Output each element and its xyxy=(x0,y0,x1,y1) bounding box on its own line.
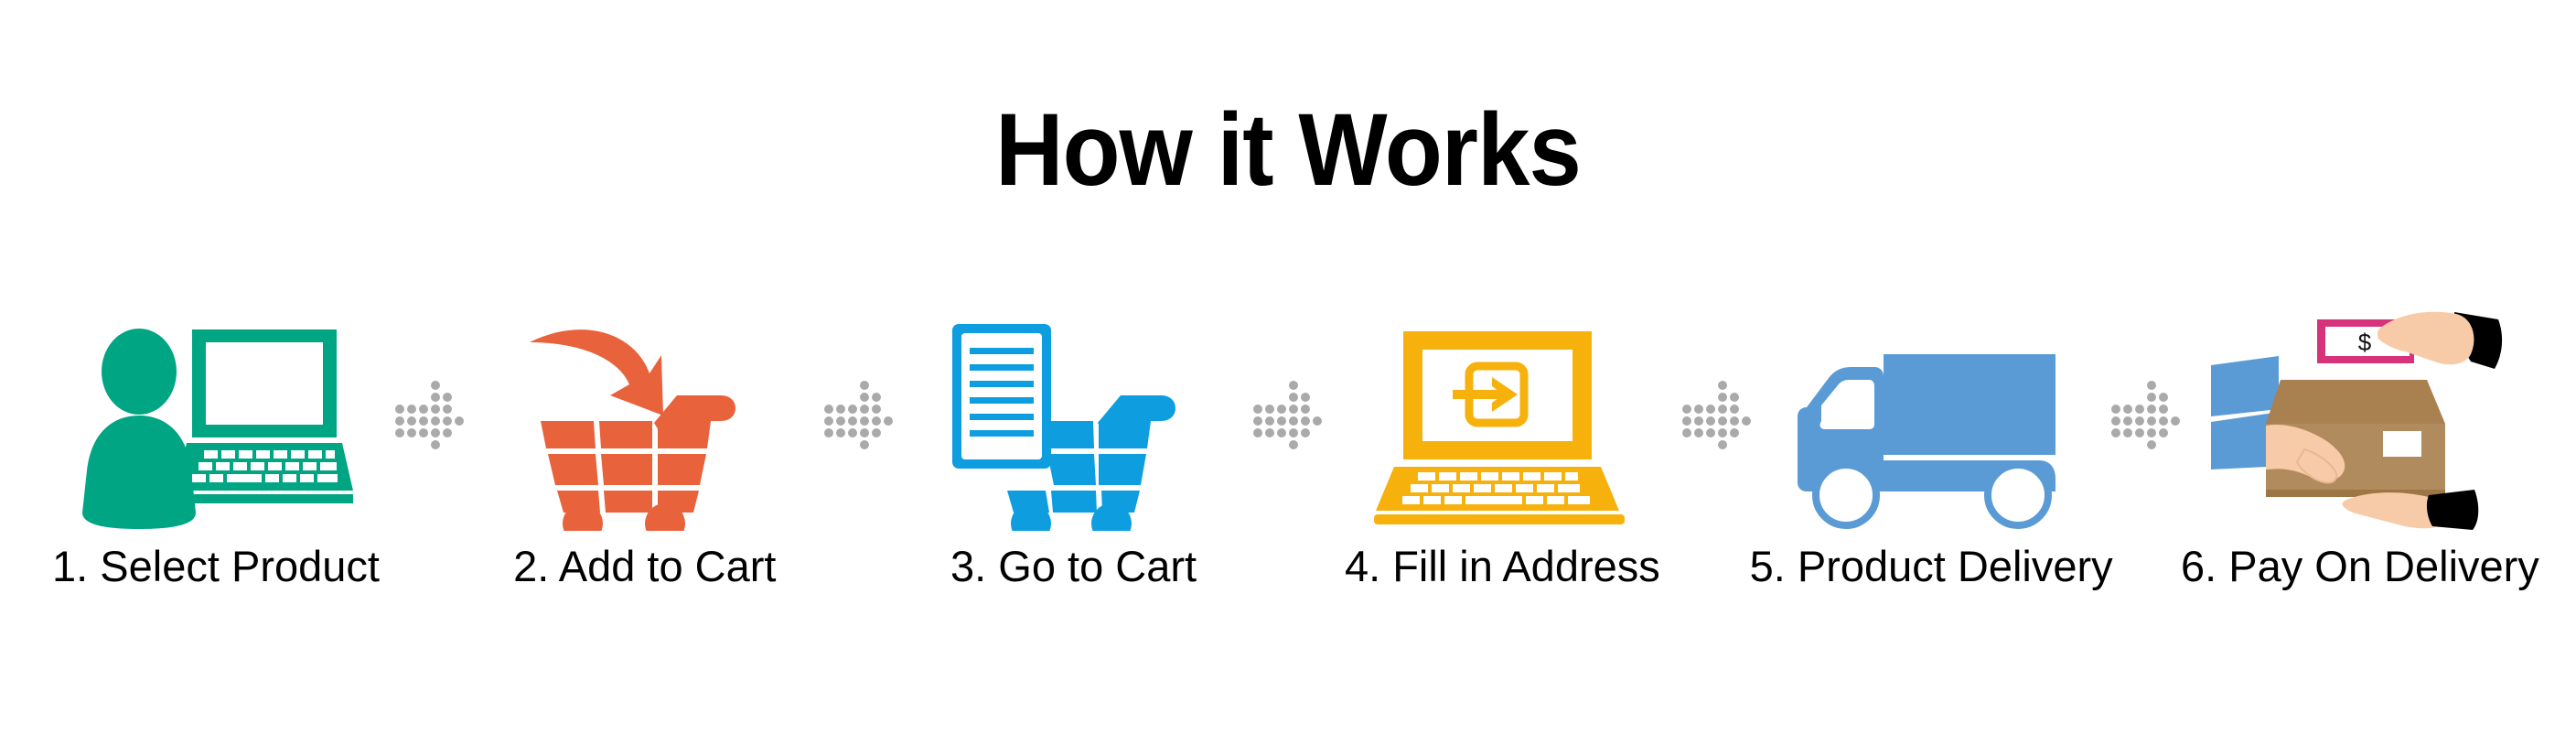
separator-arrow-2 xyxy=(820,302,898,531)
page-title: How it Works xyxy=(103,99,2474,201)
step-4-fill-in-address[interactable]: 4. Fill in Address xyxy=(1332,302,1672,632)
person-with-laptop-icon xyxy=(79,320,353,531)
step-6-icon-box: $ xyxy=(2190,302,2530,531)
step-3-go-to-cart[interactable]: 3. Go to Cart xyxy=(904,302,1244,632)
step-2-icon-box xyxy=(475,302,815,531)
step-3-icon-box xyxy=(904,302,1244,531)
step-1-icon-box xyxy=(46,302,386,531)
separator-arrow-1 xyxy=(391,302,469,531)
hands-exchanging-box-and-cash-icon: $ xyxy=(2209,307,2511,531)
step-6-label: 6. Pay On Delivery xyxy=(2181,544,2539,588)
laptop-with-login-arrow-icon xyxy=(1374,329,1630,531)
step-6-pay-on-delivery[interactable]: $ xyxy=(2190,302,2530,632)
step-5-label: 5. Product Delivery xyxy=(1750,544,2113,588)
step-2-label: 2. Add to Cart xyxy=(513,544,776,588)
dotted-right-arrow-icon xyxy=(1680,380,1754,453)
cart-with-arrow-icon xyxy=(526,320,764,531)
step-5-icon-box xyxy=(1761,302,2101,531)
separator-arrow-4 xyxy=(1678,302,1756,531)
document-with-cart-icon xyxy=(950,320,1197,531)
cash-dollar-symbol: $ xyxy=(2358,329,2372,356)
step-4-label: 4. Fill in Address xyxy=(1345,544,1660,588)
how-it-works-infographic: How it Works xyxy=(0,0,2576,745)
step-2-add-to-cart[interactable]: 2. Add to Cart xyxy=(475,302,815,632)
delivery-truck-icon xyxy=(1794,343,2068,531)
separator-arrow-3 xyxy=(1249,302,1327,531)
step-5-product-delivery[interactable]: 5. Product Delivery xyxy=(1761,302,2101,632)
steps-strip: 1. Select Product xyxy=(46,302,2530,632)
dotted-right-arrow-icon xyxy=(1251,380,1325,453)
step-3-label: 3. Go to Cart xyxy=(950,544,1197,588)
step-1-label: 1. Select Product xyxy=(52,544,380,588)
step-1-select-product[interactable]: 1. Select Product xyxy=(46,302,386,632)
dotted-right-arrow-icon xyxy=(393,380,467,453)
dotted-right-arrow-icon xyxy=(2109,380,2183,453)
step-4-icon-box xyxy=(1332,302,1672,531)
dotted-right-arrow-icon xyxy=(822,380,896,453)
separator-arrow-5 xyxy=(2107,302,2185,531)
